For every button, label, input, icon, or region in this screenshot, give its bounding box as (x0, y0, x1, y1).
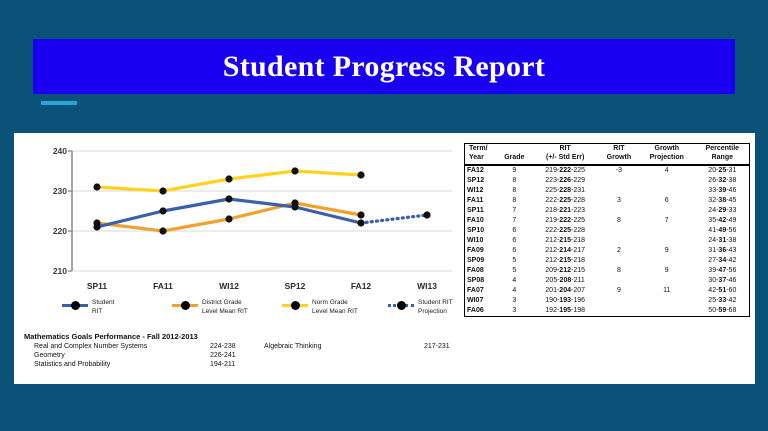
svg-text:FA12: FA12 (351, 281, 372, 291)
cell-rit: 212-215-218 (530, 256, 600, 266)
svg-text:220: 220 (53, 226, 67, 236)
cell-growth: 3 (600, 196, 638, 206)
legend-swatch-orange-icon (172, 300, 198, 311)
cell-grade: 5 (498, 256, 530, 266)
legend-item-student-rit: Student RIT (62, 299, 164, 316)
title-banner: Student Progress Report (33, 39, 735, 94)
title-accent-bar (41, 101, 77, 105)
cell-term: FA12 (465, 165, 499, 176)
table-row: SP117218-221-22324-29-33 (465, 206, 750, 216)
cell-growth: 8 (600, 216, 638, 226)
cell-percentile: 33-39-46 (696, 186, 750, 196)
goal-range: 224-238 (210, 343, 236, 350)
cell-percentile: 41-49-56 (696, 226, 750, 236)
column-header-grade: Grade (498, 144, 530, 166)
goal-row: Geometry 226-241 (24, 352, 474, 361)
cell-projection: 6 (638, 196, 696, 206)
svg-text:210: 210 (53, 266, 67, 276)
goal-range: 194-211 (210, 361, 235, 368)
svg-text:240: 240 (53, 146, 67, 156)
chart-y-ticks: 240 230 220 210 (53, 146, 67, 276)
chart-svg: 240 230 220 210 (20, 137, 460, 307)
cell-growth (600, 306, 638, 317)
legend-item-district: District Grade Level Mean RIT (172, 299, 274, 316)
cell-term: SP12 (465, 176, 499, 186)
cell-grade: 5 (498, 266, 530, 276)
cell-growth (600, 236, 638, 246)
series-projection-line (361, 215, 427, 223)
cell-rit: 219-222-225 (530, 216, 600, 226)
cell-projection (638, 186, 696, 196)
table-row: FA063192-195-19850-59-68 (465, 306, 750, 317)
cell-rit: 222-225-228 (530, 226, 600, 236)
cell-grade: 3 (498, 306, 530, 317)
cell-grade: 8 (498, 196, 530, 206)
cell-term: WI07 (465, 296, 499, 306)
cell-rit: 219-222-225 (530, 165, 600, 176)
table-row: FA085209-212-2158939-47-56 (465, 266, 750, 276)
cell-percentile: 30-37-46 (696, 276, 750, 286)
series-student-rit-line (97, 199, 361, 227)
cell-term: FA08 (465, 266, 499, 276)
cell-rit: 218-221-223 (530, 206, 600, 216)
cell-grade: 7 (498, 216, 530, 226)
page-title: Student Progress Report (223, 50, 545, 84)
cell-projection: 11 (638, 286, 696, 296)
legend-label-district-l2: Level Mean RIT (202, 308, 248, 315)
chart-legend: Student RIT District Grade Level Mean RI… (44, 299, 464, 331)
goals-block: Mathematics Goals Performance - Fall 201… (24, 332, 474, 370)
table-row: FA129219-222-225-3420-25-31 (465, 165, 750, 176)
legend-swatch-yellow-icon (282, 300, 308, 311)
cell-growth: 9 (600, 286, 638, 296)
table-row: FA107219-222-2258735-42-49 (465, 216, 750, 226)
cell-term: SP10 (465, 226, 499, 236)
goal-name: Statistics and Probability (34, 361, 110, 368)
cell-projection (638, 226, 696, 236)
cell-grade: 4 (498, 276, 530, 286)
cell-growth (600, 296, 638, 306)
cell-term: WI12 (465, 186, 499, 196)
cell-percentile: 39-47-56 (696, 266, 750, 276)
cell-growth (600, 186, 638, 196)
cell-growth (600, 276, 638, 286)
cell-percentile: 25-33-42 (696, 296, 750, 306)
cell-grade: 6 (498, 226, 530, 236)
cell-growth (600, 206, 638, 216)
column-header-growth-projection: GrowthProjection (638, 144, 696, 166)
cell-term: FA11 (465, 196, 499, 206)
cell-rit: 192-195-198 (530, 306, 600, 317)
cell-grade: 4 (498, 286, 530, 296)
cell-percentile: 42-51-60 (696, 286, 750, 296)
cell-rit: 190-193-196 (530, 296, 600, 306)
table-row: SP128223-226-22926-32-38 (465, 176, 750, 186)
table-row: WI106212-215-21824-31-38 (465, 236, 750, 246)
cell-projection (638, 206, 696, 216)
goals-title: Mathematics Goals Performance - Fall 201… (24, 332, 474, 341)
cell-term: FA09 (465, 246, 499, 256)
legend-label-norm-l1: Norm Grade (312, 299, 348, 306)
table-row: SP084205-208-21130-37-46 (465, 276, 750, 286)
legend-label-student-rit-l2: RIT (92, 308, 102, 315)
chart-markers (93, 167, 430, 234)
cell-projection: 4 (638, 165, 696, 176)
cell-percentile: 35-42-49 (696, 216, 750, 226)
rit-table-body: FA129219-222-225-3420-25-31SP128223-226-… (465, 165, 750, 317)
goal-range-2: 217-231 (424, 343, 450, 350)
cell-term: SP08 (465, 276, 499, 286)
table-row: FA096212-214-2172931-36-43 (465, 246, 750, 256)
legend-swatch-blue-icon (62, 300, 88, 311)
table-row: WI073190-193-19625-33-42 (465, 296, 750, 306)
cell-rit: 205-208-211 (530, 276, 600, 286)
cell-grade: 7 (498, 206, 530, 216)
cell-growth: 8 (600, 266, 638, 276)
svg-text:WI13: WI13 (417, 281, 437, 291)
goal-name: Real and Complex Number Systems (34, 343, 147, 350)
cell-rit: 201-204-207 (530, 286, 600, 296)
cell-percentile: 31-36-43 (696, 246, 750, 256)
cell-grade: 8 (498, 186, 530, 196)
cell-projection (638, 256, 696, 266)
cell-rit: 225-228-231 (530, 186, 600, 196)
cell-percentile: 26-32-38 (696, 176, 750, 186)
column-header-term-year: Term/Year (465, 144, 499, 166)
column-header-rit: RIT(+/- Std Err) (530, 144, 600, 166)
column-header-percentile-range: PercentileRange (696, 144, 750, 166)
cell-rit: 212-214-217 (530, 246, 600, 256)
cell-growth: -3 (600, 165, 638, 176)
cell-term: SP09 (465, 256, 499, 266)
cell-growth: 2 (600, 246, 638, 256)
cell-term: SP11 (465, 206, 499, 216)
column-header-rit-growth: RITGrowth (600, 144, 638, 166)
cell-percentile: 24-31-38 (696, 236, 750, 246)
legend-label-projection-l1: Student RIT (418, 299, 453, 306)
svg-text:SP12: SP12 (285, 281, 306, 291)
legend-item-norm: Norm Grade Level Mean RIT (282, 299, 384, 316)
cell-term: FA10 (465, 216, 499, 226)
rit-table-container: Term/Year Grade RIT(+/- Std Err) RITGrow… (464, 143, 750, 317)
table-row: FA118222-225-2283632-38-45 (465, 196, 750, 206)
cell-growth (600, 226, 638, 236)
table-row: WI128225-228-23133-39-46 (465, 186, 750, 196)
cell-projection (638, 276, 696, 286)
goal-row: Statistics and Probability 194-211 (24, 361, 474, 370)
cell-projection (638, 306, 696, 317)
legend-swatch-dotted-blue-icon (388, 300, 414, 311)
goal-name-2: Algebraic Thinking (264, 343, 321, 350)
legend-label-norm-l2: Level Mean RIT (312, 308, 358, 315)
cell-percentile: 50-59-68 (696, 306, 750, 317)
cell-projection: 9 (638, 266, 696, 276)
cell-rit: 222-225-228 (530, 196, 600, 206)
goal-range: 226-241 (210, 352, 236, 359)
table-row: SP095212-215-21827-34-42 (465, 256, 750, 266)
cell-growth (600, 256, 638, 266)
table-header-row: Term/Year Grade RIT(+/- Std Err) RITGrow… (465, 144, 750, 166)
cell-projection (638, 296, 696, 306)
cell-term: FA07 (465, 286, 499, 296)
cell-percentile: 20-25-31 (696, 165, 750, 176)
goal-name: Geometry (34, 352, 65, 359)
svg-text:230: 230 (53, 186, 67, 196)
cell-growth (600, 176, 638, 186)
svg-text:SP11: SP11 (87, 281, 108, 291)
bottom-strip (0, 384, 768, 431)
rit-table: Term/Year Grade RIT(+/- Std Err) RITGrow… (464, 143, 750, 317)
legend-label-projection-l2: Projection (418, 308, 447, 315)
report-card: 240 230 220 210 (14, 133, 755, 384)
table-row: FA074201-204-20791142-51-60 (465, 286, 750, 296)
cell-grade: 8 (498, 176, 530, 186)
cell-projection: 7 (638, 216, 696, 226)
cell-term: FA06 (465, 306, 499, 317)
legend-label-district-l1: District Grade (202, 299, 242, 306)
cell-grade: 6 (498, 246, 530, 256)
cell-percentile: 32-38-45 (696, 196, 750, 206)
cell-grade: 6 (498, 236, 530, 246)
table-row: SP106222-225-22841-49-56 (465, 226, 750, 236)
cell-grade: 3 (498, 296, 530, 306)
cell-term: WI10 (465, 236, 499, 246)
svg-text:WI12: WI12 (219, 281, 239, 291)
cell-percentile: 27-34-42 (696, 256, 750, 266)
cell-rit: 209-212-215 (530, 266, 600, 276)
legend-label-student-rit-l1: Student (92, 299, 114, 306)
cell-percentile: 24-29-33 (696, 206, 750, 216)
cell-projection (638, 176, 696, 186)
chart-x-ticks: SP11 FA11 WI12 SP12 FA12 WI13 (87, 281, 437, 291)
cell-rit: 223-226-229 (530, 176, 600, 186)
goal-row: Real and Complex Number Systems 224-238 … (24, 343, 474, 352)
svg-text:FA11: FA11 (153, 281, 173, 291)
cell-projection: 9 (638, 246, 696, 256)
cell-rit: 212-215-218 (530, 236, 600, 246)
cell-projection (638, 236, 696, 246)
cell-grade: 9 (498, 165, 530, 176)
